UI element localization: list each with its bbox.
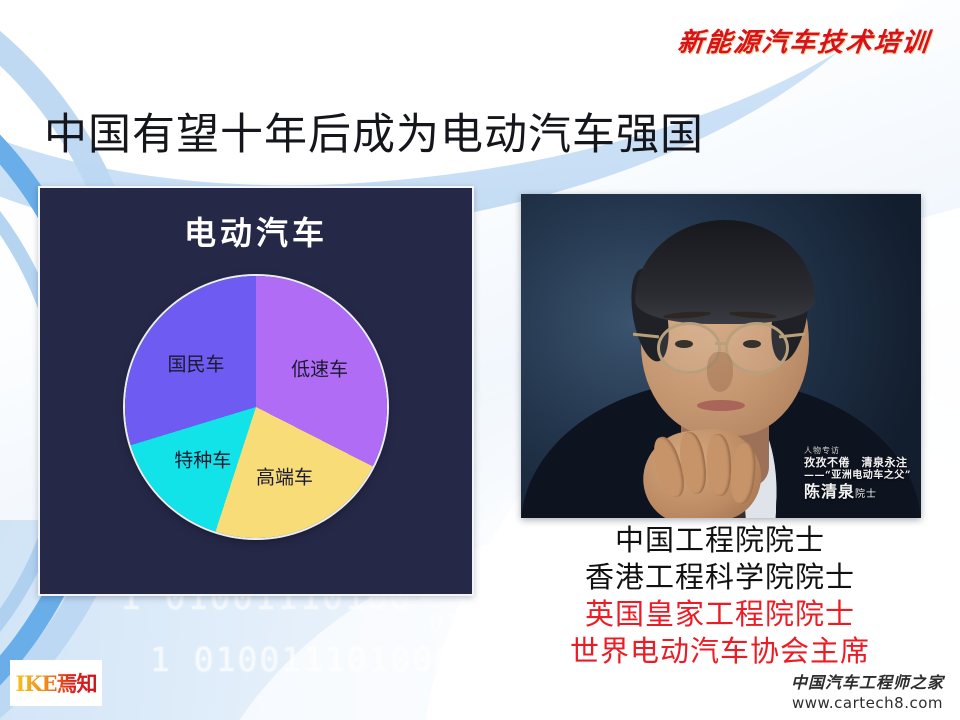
chart-title: 电动汽车 — [40, 208, 472, 254]
photo-glasses-bridge — [715, 342, 727, 345]
header-brand-title: 新能源汽车技术培训 — [676, 22, 932, 59]
page-title: 中国有望十年后成为电动汽车强国 — [44, 100, 704, 162]
ike-logo: IKE焉知 — [10, 660, 102, 706]
watermark-url: www.cartech8.com — [791, 694, 944, 712]
pie-chart-panel: 电动汽车 低速车高端车特种车国民车 — [38, 186, 474, 596]
person-credentials-caption: 中国工程院院士香港工程科学院院士英国皇家工程院院士世界电动汽车协会主席 — [500, 522, 940, 670]
background-binary-text-3: 1 010011101000 — [150, 640, 456, 679]
watermark-cn-text: 中国汽车工程师之家 — [791, 669, 944, 693]
pie-slice-label: 国民车 — [167, 349, 224, 376]
photo-overlay-caption: 人物专访 孜孜不倦 清泉永注 ——“亚洲电动车之父” 陈清泉院士 — [804, 446, 911, 502]
photo-overlay-person-title: 院士 — [855, 489, 877, 500]
caption-line: 英国皇家工程院院士 — [500, 596, 940, 633]
pie-slice-label: 特种车 — [174, 446, 231, 473]
caption-line: 中国工程院院士 — [500, 522, 940, 559]
ike-logo-text: IKE焉知 — [15, 668, 96, 698]
pie-chart: 低速车高端车特种车国民车 — [125, 276, 387, 538]
caption-line: 香港工程科学院院士 — [500, 559, 940, 596]
caption-line: 世界电动汽车协会主席 — [500, 633, 940, 670]
photo-nose — [707, 352, 733, 392]
pie-slice-label: 低速车 — [291, 354, 348, 381]
pie-disc — [125, 276, 387, 538]
pie-slice-label: 高端车 — [256, 462, 313, 489]
slide-root: 1011001011 1 01001110100 1 010011101000 … — [0, 0, 960, 720]
site-watermark: 中国汽车工程师之家 www.cartech8.com — [791, 669, 944, 712]
photo-overlay-line-2: 孜孜不倦 清泉永注 — [804, 456, 911, 470]
photo-glasses-lens-right — [725, 322, 789, 374]
photo-overlay-line-4: 陈清泉院士 — [804, 482, 911, 502]
photo-mouth — [697, 400, 745, 411]
photo-overlay-line-3: ——“亚洲电动车之父” — [804, 470, 911, 483]
photo-overlay-person-name: 陈清泉 — [804, 482, 855, 501]
photo-overlay-line-1: 人物专访 — [804, 446, 911, 456]
portrait-photo: 人物专访 孜孜不倦 清泉永注 ——“亚洲电动车之父” 陈清泉院士 — [521, 194, 921, 518]
